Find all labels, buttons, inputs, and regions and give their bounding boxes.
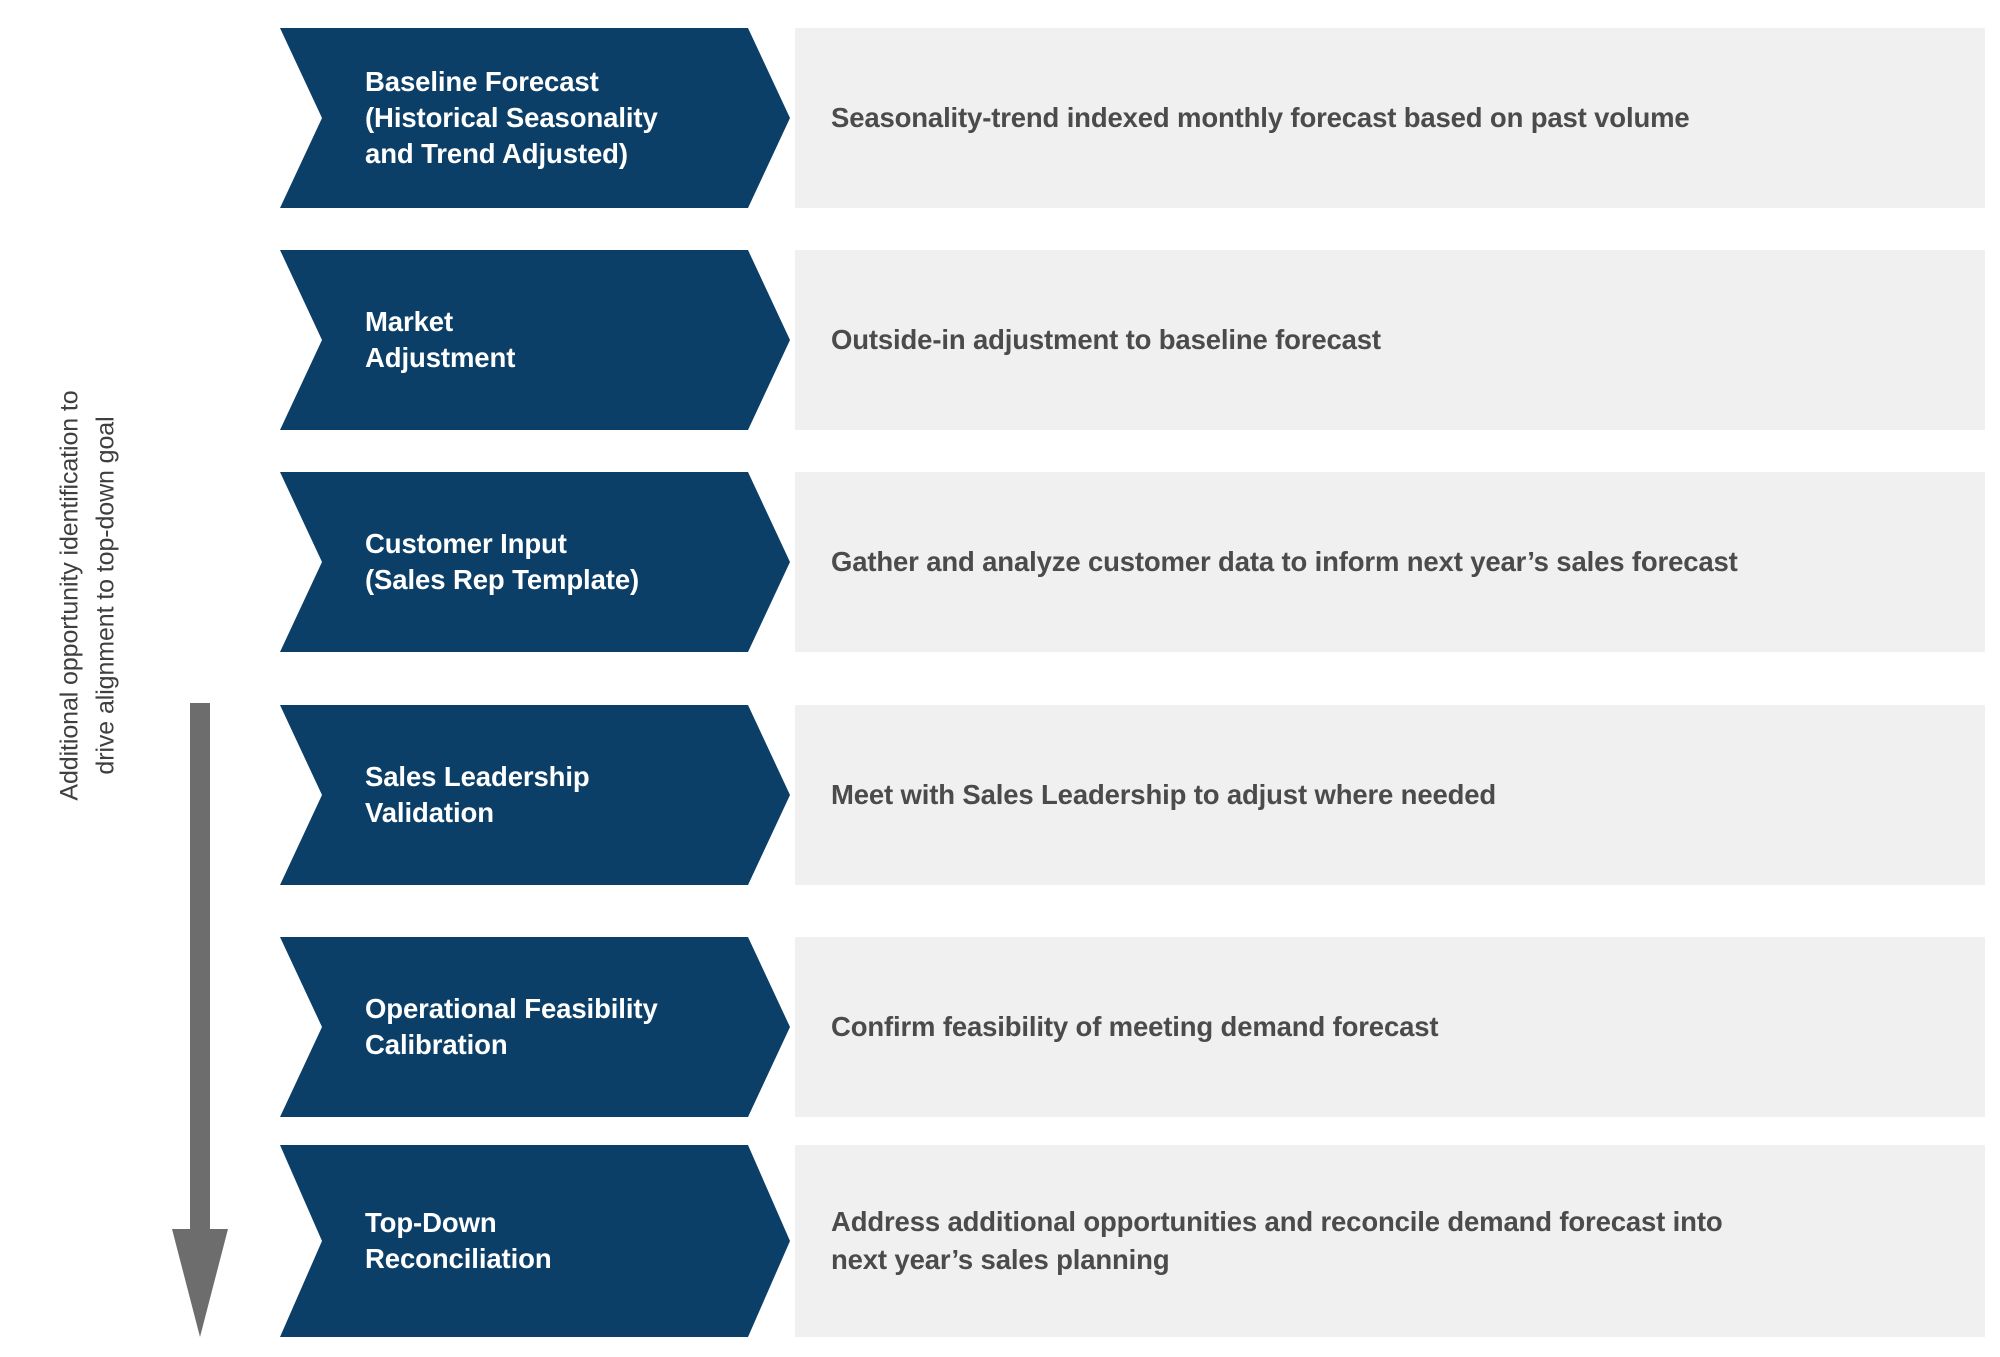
step-description-band: Address additional opportunities and rec… [795, 1145, 1985, 1337]
step-description-text: Confirm feasibility of meeting demand fo… [795, 1008, 1478, 1046]
step-description-band: Confirm feasibility of meeting demand fo… [795, 937, 1985, 1117]
process-step-row[interactable]: Outside-in adjustment to baseline foreca… [0, 250, 2000, 430]
process-step-row[interactable]: Confirm feasibility of meeting demand fo… [0, 937, 2000, 1117]
step-description-text: Outside-in adjustment to baseline foreca… [795, 321, 1421, 359]
step-chevron[interactable]: Market Adjustment [280, 250, 790, 430]
step-description-band: Seasonality-trend indexed monthly foreca… [795, 28, 1985, 208]
process-step-row[interactable]: Address additional opportunities and rec… [0, 1145, 2000, 1337]
step-description-band: Gather and analyze customer data to info… [795, 472, 1985, 652]
chevron-shape-icon [280, 250, 790, 430]
diagram-canvas: Additional opportunity identification to… [0, 0, 2000, 1357]
chevron-shape-icon [280, 472, 790, 652]
chevron-shape-icon [280, 1145, 790, 1337]
chevron-shape-icon [280, 28, 790, 208]
step-description-band: Outside-in adjustment to baseline foreca… [795, 250, 1985, 430]
step-chevron[interactable]: Baseline Forecast (Historical Seasonalit… [280, 28, 790, 208]
process-step-row[interactable]: Meet with Sales Leadership to adjust whe… [0, 705, 2000, 885]
step-chevron[interactable]: Operational Feasibility Calibration [280, 937, 790, 1117]
step-chevron[interactable]: Customer Input (Sales Rep Template) [280, 472, 790, 652]
process-step-row[interactable]: Seasonality-trend indexed monthly foreca… [0, 28, 2000, 208]
chevron-shape-icon [280, 705, 790, 885]
step-chevron[interactable]: Top-Down Reconciliation [280, 1145, 790, 1337]
step-description-text: Seasonality-trend indexed monthly foreca… [795, 99, 1730, 137]
step-chevron[interactable]: Sales Leadership Validation [280, 705, 790, 885]
step-description-band: Meet with Sales Leadership to adjust whe… [795, 705, 1985, 885]
step-description-text: Gather and analyze customer data to info… [795, 543, 1778, 581]
process-step-row[interactable]: Gather and analyze customer data to info… [0, 472, 2000, 652]
chevron-shape-icon [280, 937, 790, 1117]
step-description-text: Address additional opportunities and rec… [795, 1203, 1762, 1279]
step-description-text: Meet with Sales Leadership to adjust whe… [795, 776, 1536, 814]
